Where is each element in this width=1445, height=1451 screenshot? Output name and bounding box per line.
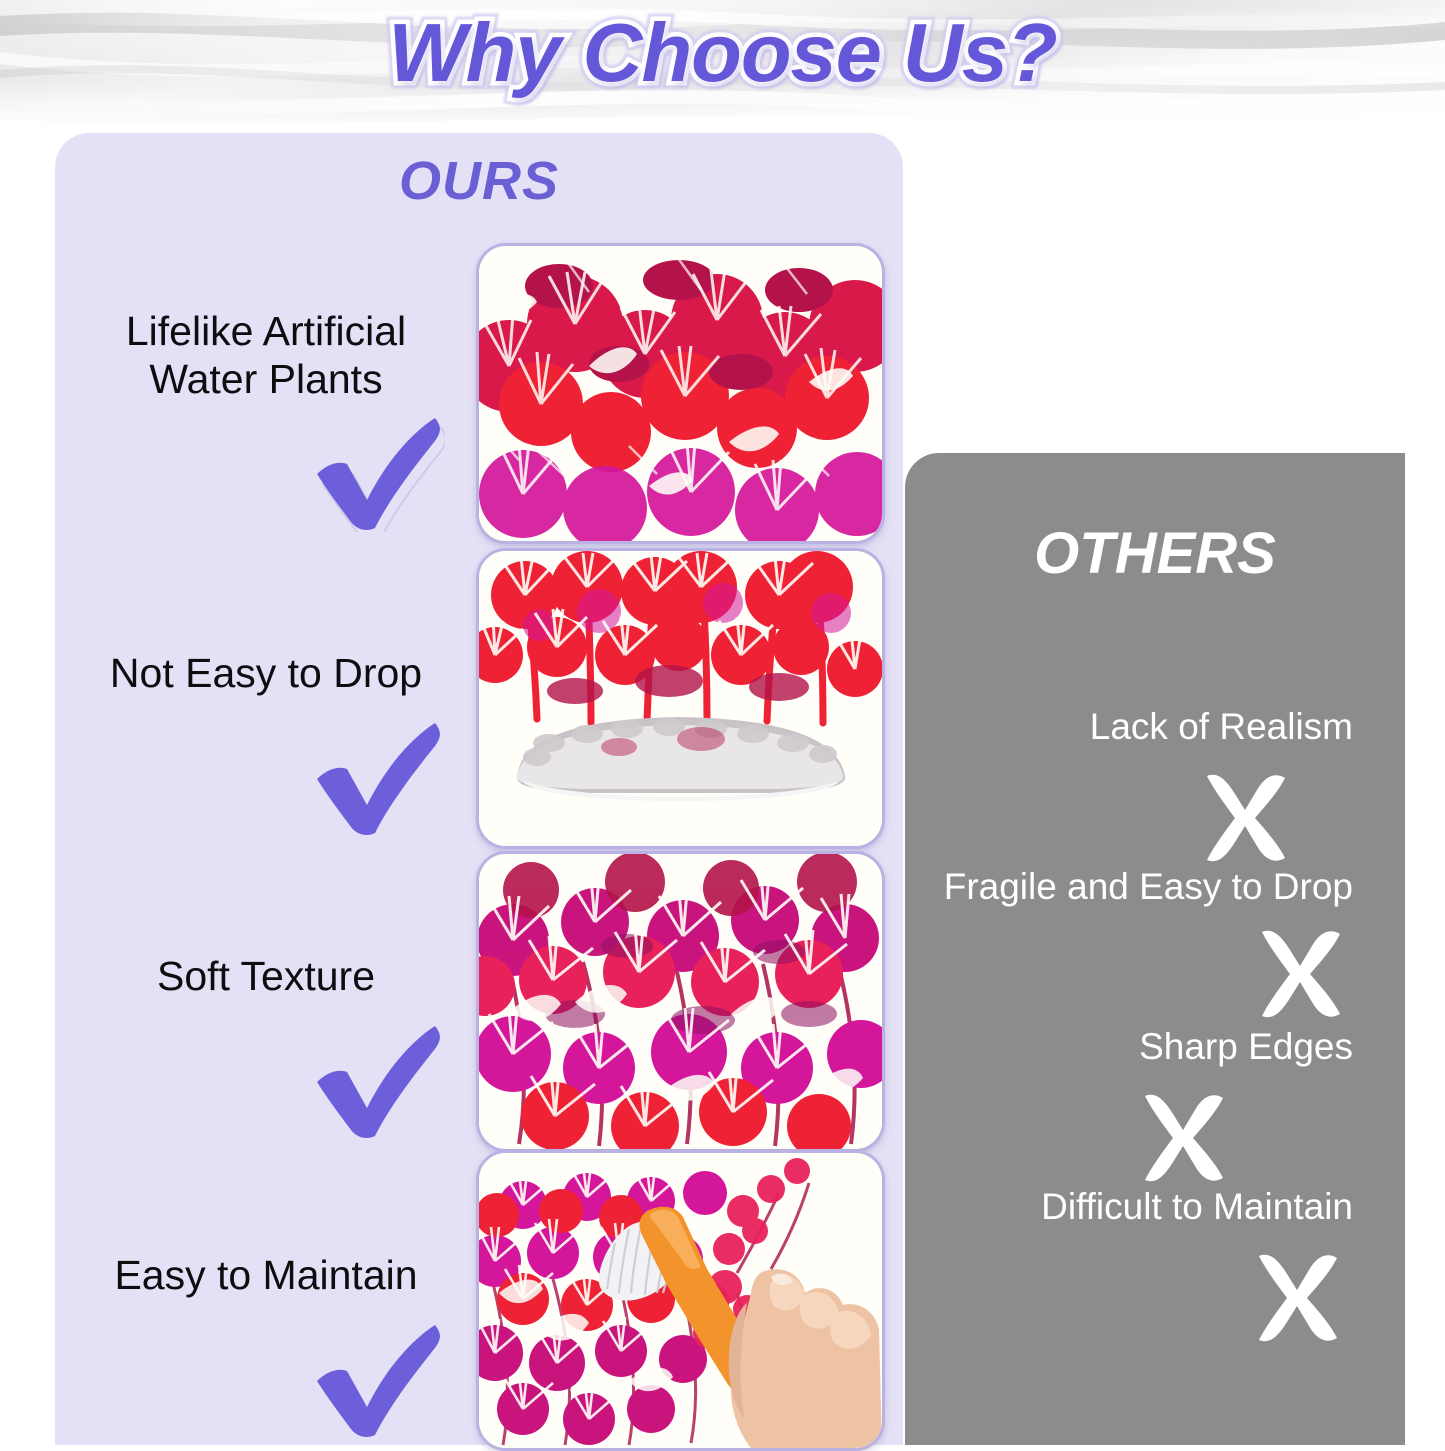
others-row-3: Sharp Edges <box>905 1026 1375 1186</box>
x-icon <box>1195 768 1295 868</box>
hand-brush-cleaning-plants-illustration <box>479 1153 882 1448</box>
ours-row-2-label-line1: Not Easy to Drop <box>110 650 422 698</box>
ours-row-1-label-line2: Water Plants <box>149 356 382 404</box>
ours-heading: OURS <box>55 150 903 212</box>
ours-row-1-image <box>476 243 885 544</box>
others-row-2: Fragile and Easy to Drop <box>905 866 1375 1026</box>
ours-row-2-image <box>476 548 885 849</box>
others-row-4-label: Difficult to Maintain <box>1041 1186 1353 1228</box>
ours-row-4-image <box>476 1150 885 1451</box>
ours-row-1: Lifelike Artificial Water Plants <box>70 243 895 538</box>
others-heading: OTHERS <box>905 520 1405 587</box>
others-row-1-label: Lack of Realism <box>1090 706 1353 748</box>
infographic-canvas: Why Choose Us? Why Choose Us? OURS OTHER… <box>0 0 1445 1445</box>
others-row-1: Lack of Realism <box>905 706 1375 866</box>
ours-row-4: Easy to Maintain <box>70 1150 895 1445</box>
others-row-4: Difficult to Maintain <box>905 1186 1375 1346</box>
ours-row-1-label-line1: Lifelike Artificial <box>126 308 406 356</box>
ours-row-3: Soft Texture <box>70 851 895 1146</box>
ours-row-4-label-line1: Easy to Maintain <box>114 1252 417 1300</box>
x-icon <box>1250 924 1350 1024</box>
plants-on-ceramic-base-illustration <box>479 551 882 846</box>
x-icon <box>1247 1248 1347 1348</box>
check-icon <box>295 1020 445 1140</box>
plants-dense-red-illustration <box>479 246 882 541</box>
check-icon <box>295 717 445 837</box>
page-title: Why Choose Us? <box>0 5 1445 101</box>
plants-magenta-closeup-illustration <box>479 854 882 1149</box>
check-icon <box>295 1319 445 1439</box>
ours-row-3-label-line1: Soft Texture <box>157 953 375 1001</box>
check-icon <box>295 412 445 532</box>
others-row-2-label: Fragile and Easy to Drop <box>944 866 1353 908</box>
ours-row-2: Not Easy to Drop <box>70 548 895 843</box>
others-row-3-label: Sharp Edges <box>1139 1026 1353 1068</box>
ours-row-3-image <box>476 851 885 1152</box>
x-icon <box>1133 1088 1233 1188</box>
